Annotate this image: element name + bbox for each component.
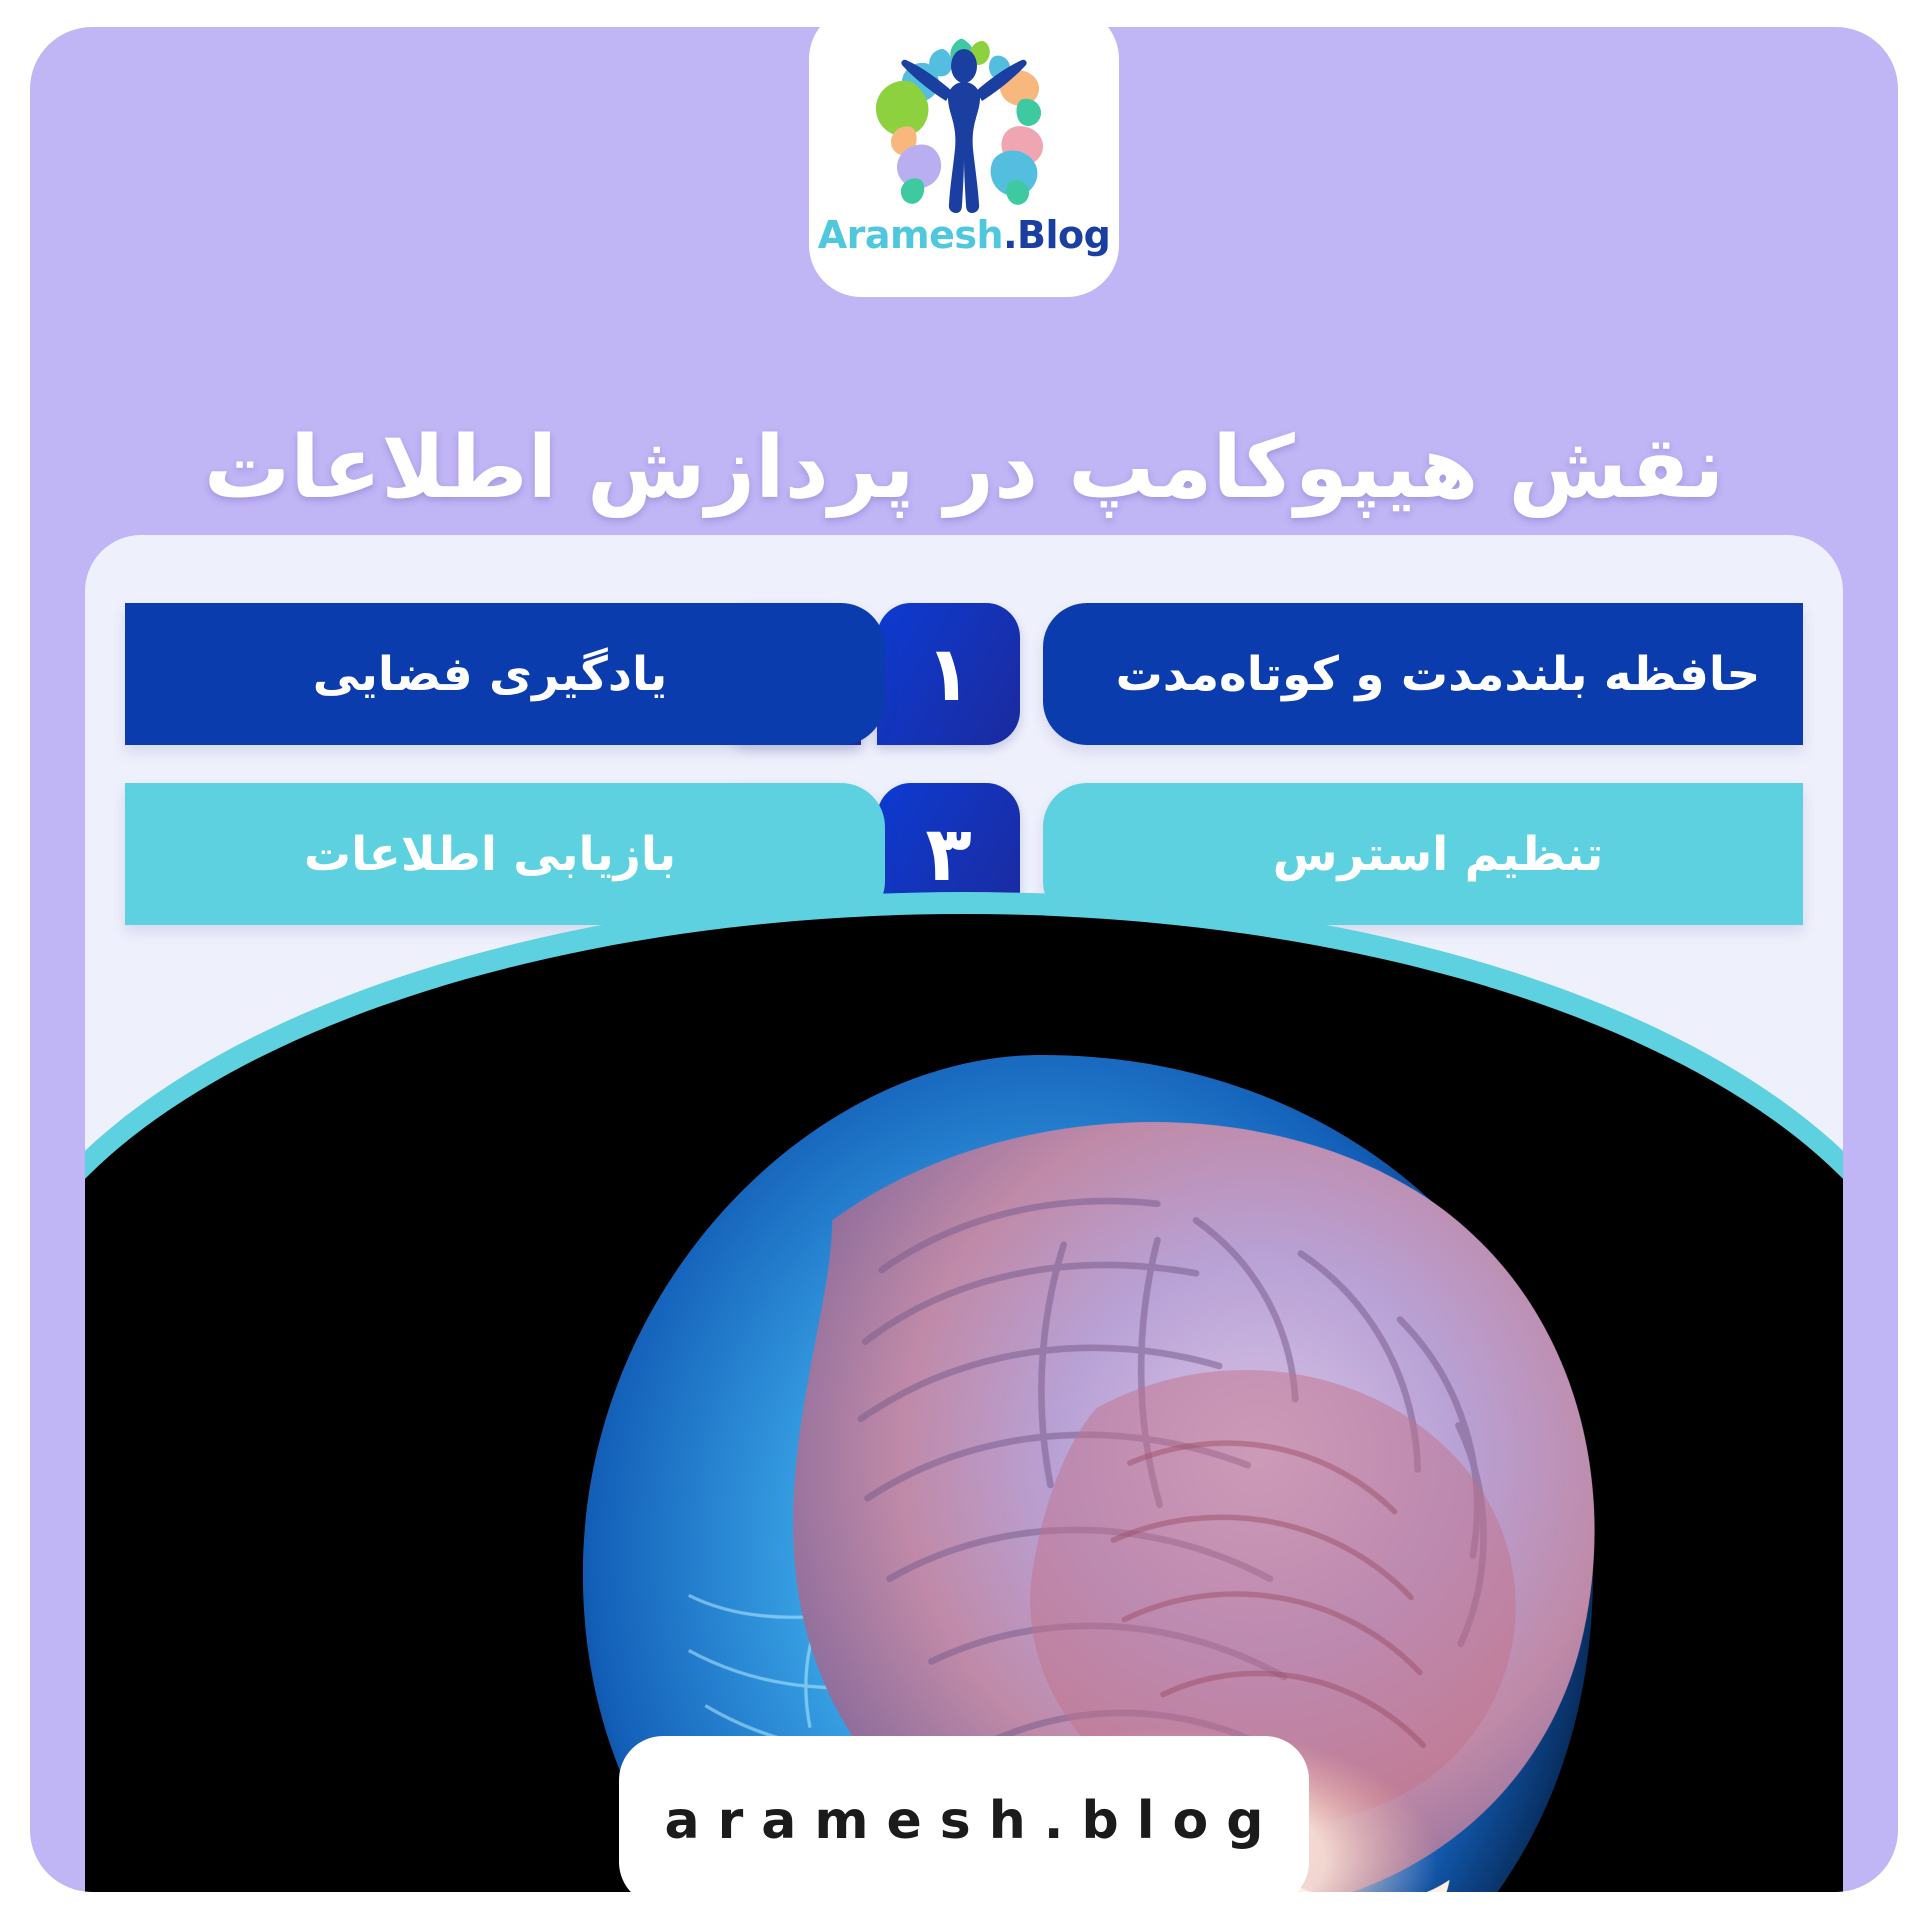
list-item-4-label: بازیابی اطلاعات <box>304 827 676 882</box>
brand-name-part2: .Blog <box>1003 213 1110 257</box>
aramesh-person-leaves-logo-icon <box>864 27 1064 219</box>
brand-logo-badge[interactable]: Aramesh.Blog <box>809 27 1119 297</box>
brand-name-part1: Aramesh <box>818 213 1003 257</box>
list-item-2[interactable]: یادگیری فضایی <box>125 603 885 745</box>
list-item-1-number: ۱ <box>877 603 1020 745</box>
footer-url-text: aramesh.blog <box>647 1791 1282 1851</box>
list-item-1-label: حافظه بلندمدت و کوتاه‌مدت <box>1116 647 1761 702</box>
content-card: حافظه بلندمدت و کوتاه‌مدت ۱ ۲ یادگیری فض… <box>85 535 1843 1892</box>
list-item-1[interactable]: حافظه بلندمدت و کوتاه‌مدت <box>1043 603 1803 745</box>
list-row: حافظه بلندمدت و کوتاه‌مدت ۱ ۲ یادگیری فض… <box>125 595 1803 753</box>
footer-url-pill[interactable]: aramesh.blog <box>619 1736 1309 1892</box>
brand-wordmark: Aramesh.Blog <box>818 213 1111 257</box>
poster-panel: Aramesh.Blog نقش هیپوکامپ در پردازش اطلا… <box>30 27 1898 1892</box>
list-item-2-label: یادگیری فضایی <box>313 647 668 702</box>
page-title: نقش هیپوکامپ در پردازش اطلاعات <box>30 417 1898 520</box>
list-item-3-label: تنظیم استرس <box>1273 827 1604 882</box>
